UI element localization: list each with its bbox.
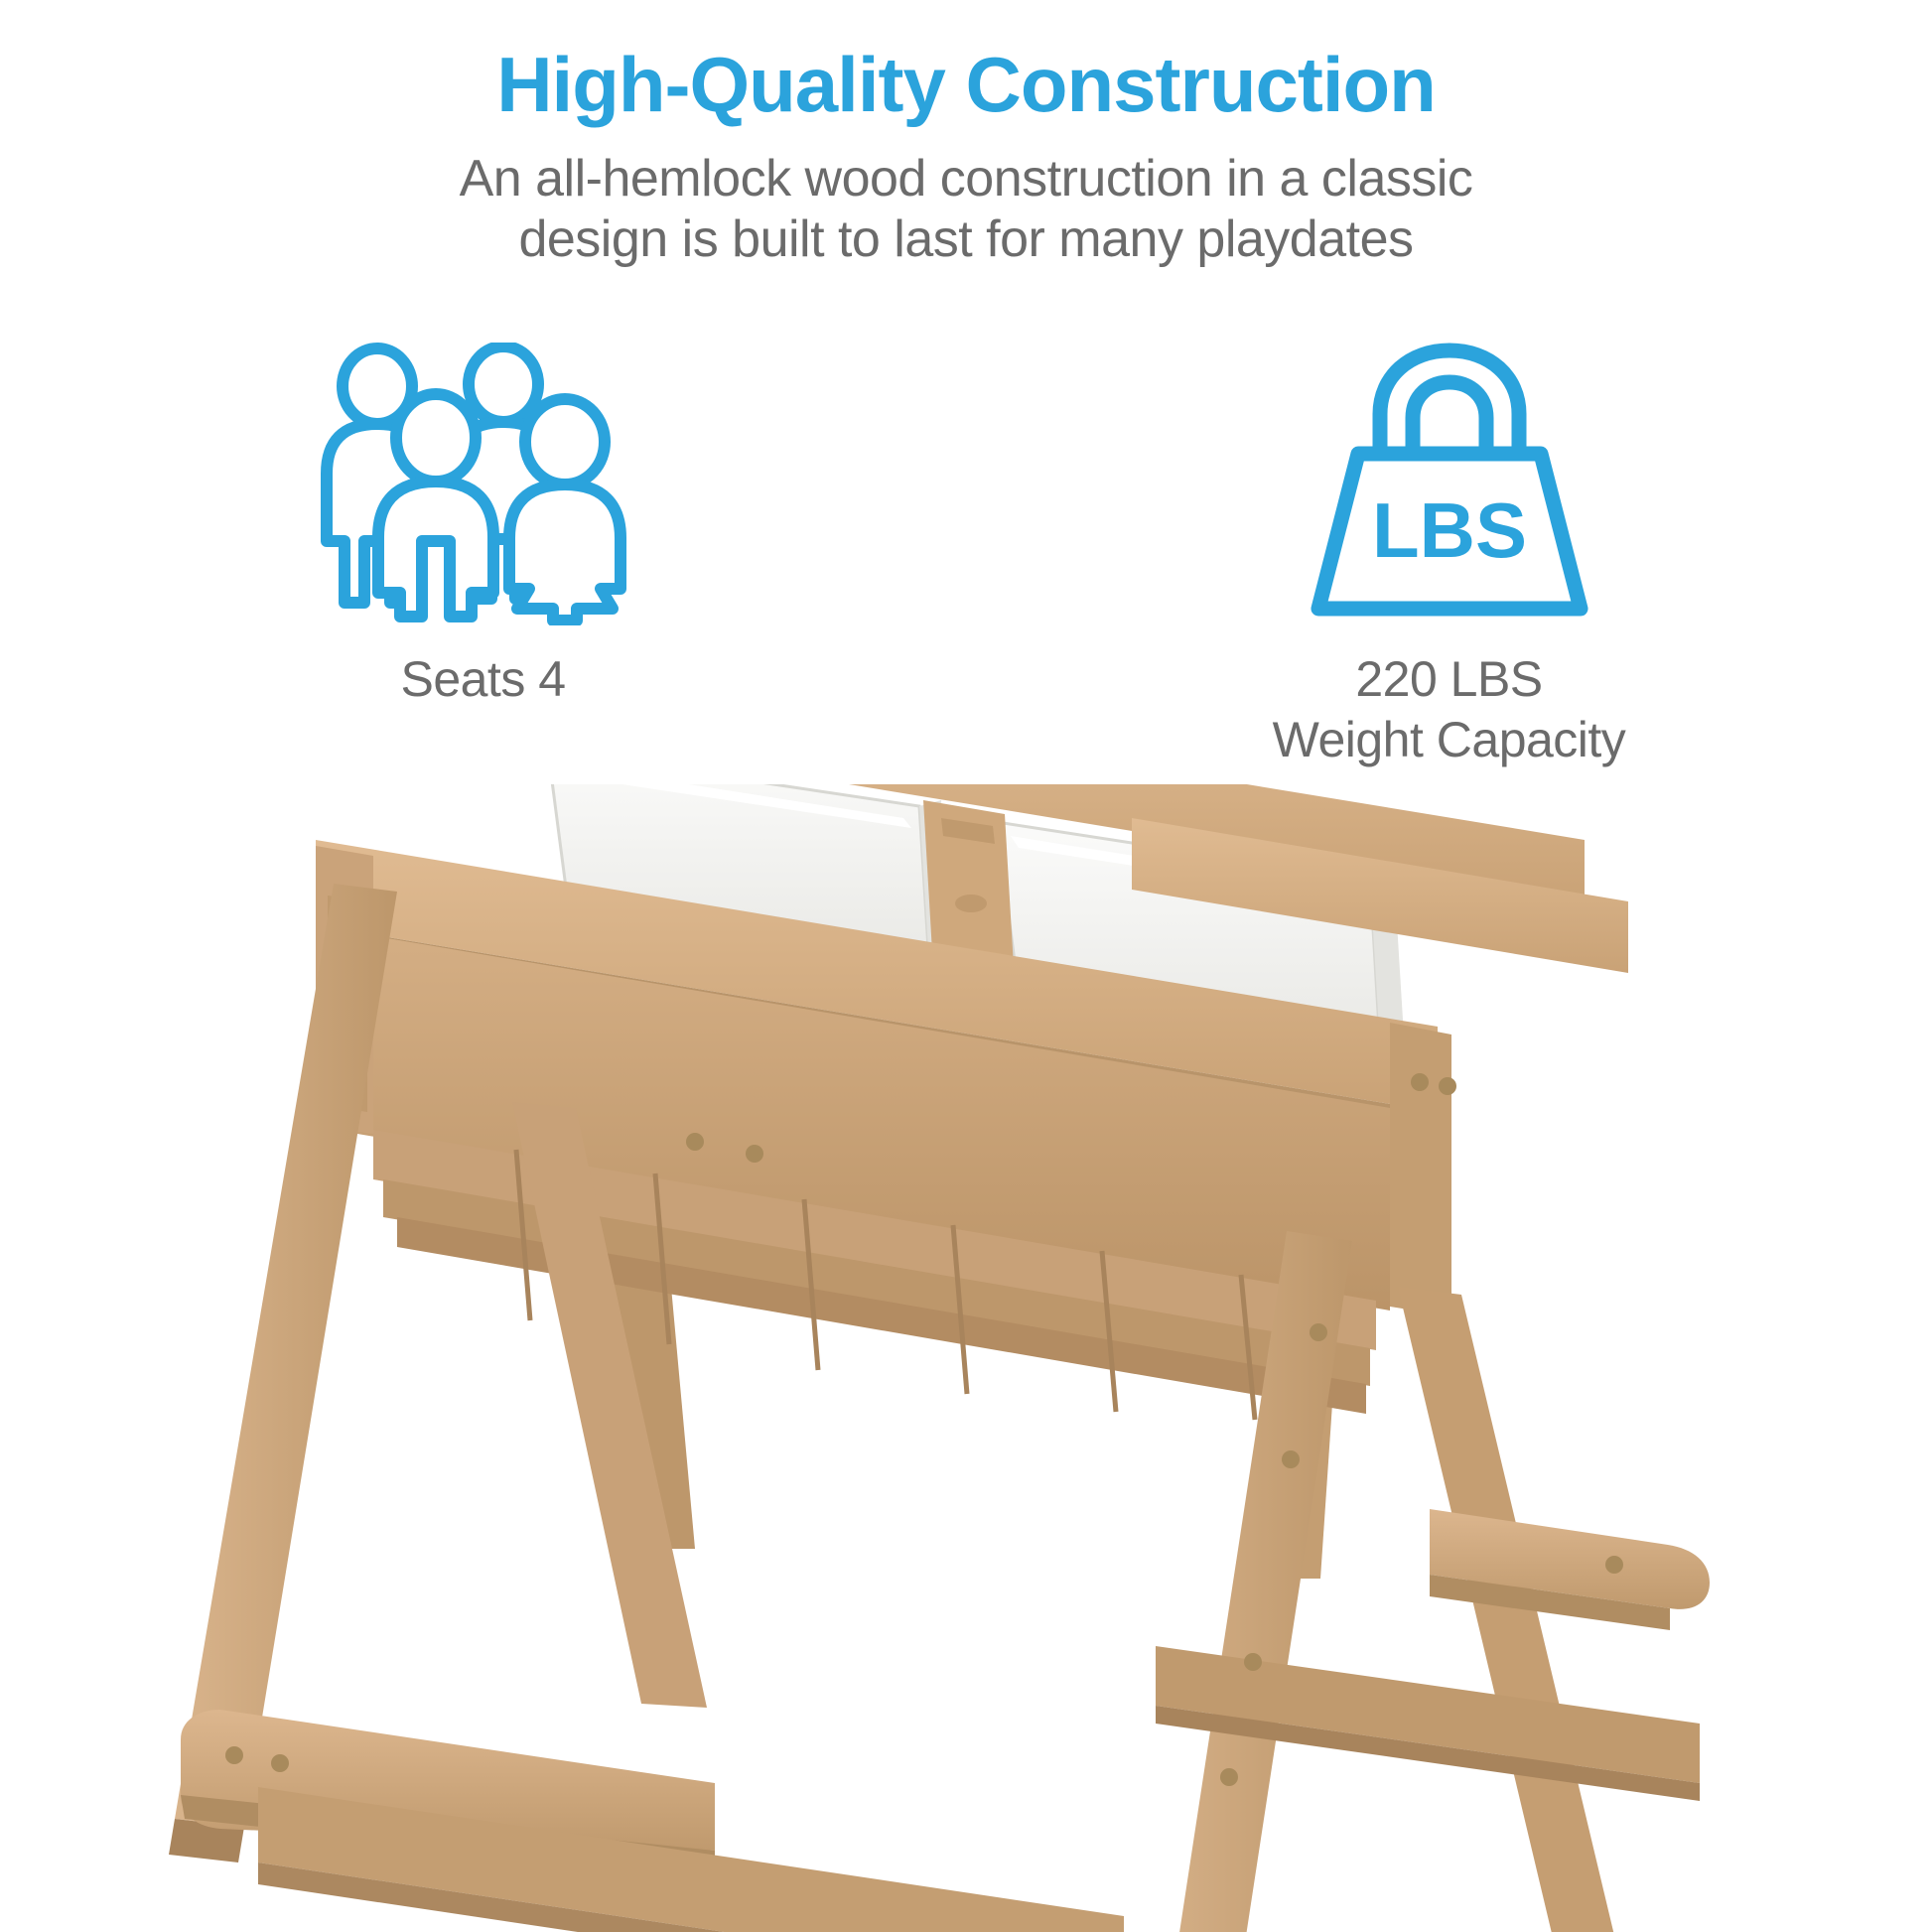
feature-weight-label: 220 LBS Weight Capacity <box>1273 649 1626 770</box>
family-group-icon <box>305 343 662 625</box>
screw-icon <box>1220 1768 1238 1786</box>
product-image-picnic-table <box>0 784 1932 1932</box>
screw-icon <box>1411 1073 1429 1091</box>
table-right-end-cap <box>1390 1023 1456 1316</box>
bench-seat-right <box>1430 1509 1710 1630</box>
screw-icon <box>1282 1450 1300 1468</box>
feature-seats: Seats 4 <box>136 343 831 710</box>
screw-icon <box>1605 1556 1623 1574</box>
screw-icon <box>225 1746 243 1764</box>
screw-icon <box>271 1754 289 1772</box>
infographic-header: High-Quality Construction An all-hemlock… <box>0 0 1932 271</box>
feature-weight-label-line-2: Weight Capacity <box>1273 710 1626 770</box>
screw-icon <box>1310 1323 1327 1341</box>
feature-seats-label-line-1: Seats 4 <box>400 649 565 710</box>
feature-weight-label-line-1: 220 LBS <box>1273 649 1626 710</box>
feature-row: Seats 4 LBS 220 LBS Weight Capacity <box>0 343 1932 770</box>
screw-icon <box>1439 1077 1456 1095</box>
screw-icon <box>746 1145 763 1163</box>
feature-weight-capacity: LBS 220 LBS Weight Capacity <box>1102 343 1797 770</box>
weight-lbs-icon: LBS <box>1301 343 1598 625</box>
lbs-icon-text: LBS <box>1372 486 1527 574</box>
subtitle-line-1: An all-hemlock wood construction in a cl… <box>271 149 1661 209</box>
page-title: High-Quality Construction <box>0 0 1932 123</box>
page-subtitle: An all-hemlock wood construction in a cl… <box>271 149 1661 271</box>
screw-icon <box>1244 1653 1262 1671</box>
feature-seats-label: Seats 4 <box>400 649 565 710</box>
screw-icon <box>686 1133 704 1151</box>
bin-divider-notch <box>955 895 987 912</box>
subtitle-line-2: design is built to last for many playdat… <box>271 209 1661 270</box>
